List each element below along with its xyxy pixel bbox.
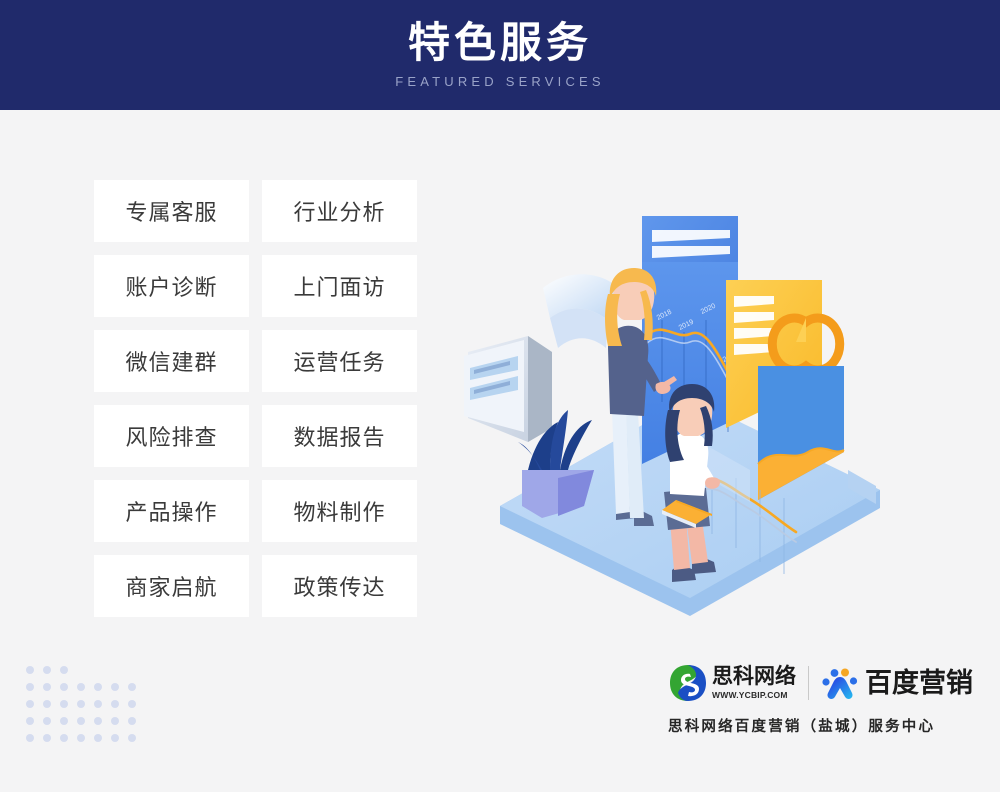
dot xyxy=(94,700,102,708)
dot xyxy=(60,683,68,691)
service-card-label: 政策传达 xyxy=(293,570,385,602)
baidu-logo[interactable]: 百度营销 xyxy=(821,666,973,700)
dot xyxy=(111,717,119,725)
ribbon-shape xyxy=(543,274,616,348)
service-card-label: 产品操作 xyxy=(125,495,217,527)
service-card[interactable]: 物料制作 xyxy=(262,480,417,542)
dot xyxy=(77,717,85,725)
dot xyxy=(43,734,51,742)
sike-logo-text: 思科网络 WWW.YCBIP.COM xyxy=(712,666,796,700)
service-card[interactable]: 上门面访 xyxy=(262,255,417,317)
baidu-dot-orange xyxy=(841,669,849,677)
service-card[interactable]: 账户诊断 xyxy=(94,255,249,317)
service-card[interactable]: 风险排查 xyxy=(94,405,249,467)
dot xyxy=(60,666,68,674)
dot xyxy=(128,734,136,742)
footer-branding: 思科网络 WWW.YCBIP.COM 百度营销 思科 xyxy=(668,660,980,736)
dot xyxy=(60,734,68,742)
service-card-label: 微信建群 xyxy=(125,345,217,377)
isometric-data-analytics-illustration: 2018 2019 2020 2021 xyxy=(440,170,940,630)
baidu-paw-icon xyxy=(821,666,859,700)
page-title: 特色服务 xyxy=(408,21,592,65)
service-card-label: 上门面访 xyxy=(293,270,385,302)
footer-caption: 思科网络百度营销（盐城）服务中心 xyxy=(668,715,980,736)
dot xyxy=(77,683,85,691)
service-card-label: 风险排查 xyxy=(125,420,217,452)
sike-logo[interactable]: 思科网络 WWW.YCBIP.COM xyxy=(668,663,796,703)
dot-grid-pattern xyxy=(26,666,134,748)
page-header: 特色服务 FEATURED SERVICES xyxy=(0,0,1000,110)
service-card-label: 商家启航 xyxy=(125,570,217,602)
dot xyxy=(111,700,119,708)
baidu-dot-upper-left xyxy=(831,669,839,677)
floating-document-card xyxy=(464,336,552,442)
dot xyxy=(77,734,85,742)
dot xyxy=(26,717,34,725)
baidu-dot-right xyxy=(850,677,857,684)
baidu-brand-name: 百度营销 xyxy=(865,670,973,697)
sike-logo-icon xyxy=(668,663,708,703)
service-card-label: 运营任务 xyxy=(293,345,385,377)
service-card-label: 行业分析 xyxy=(293,195,385,227)
baidu-dot-left xyxy=(822,678,829,685)
sike-website-url: WWW.YCBIP.COM xyxy=(712,690,796,700)
sike-company-name: 思科网络 xyxy=(712,666,796,688)
dot xyxy=(60,700,68,708)
dot xyxy=(128,700,136,708)
dot xyxy=(43,700,51,708)
service-card[interactable]: 专属客服 xyxy=(94,180,249,242)
service-card[interactable]: 产品操作 xyxy=(94,480,249,542)
dot xyxy=(128,717,136,725)
service-card-label: 物料制作 xyxy=(293,495,385,527)
dot xyxy=(111,734,119,742)
dot xyxy=(26,700,34,708)
logo-divider xyxy=(808,666,809,700)
service-card[interactable]: 运营任务 xyxy=(262,330,417,392)
dot xyxy=(111,683,119,691)
service-card-label: 数据报告 xyxy=(293,420,385,452)
dot xyxy=(77,700,85,708)
service-card[interactable]: 数据报告 xyxy=(262,405,417,467)
dot xyxy=(43,717,51,725)
dot xyxy=(94,683,102,691)
dot xyxy=(26,666,34,674)
logo-row: 思科网络 WWW.YCBIP.COM 百度营销 xyxy=(668,660,980,706)
dot xyxy=(26,734,34,742)
dot xyxy=(94,734,102,742)
service-card[interactable]: 行业分析 xyxy=(262,180,417,242)
service-card-label: 账户诊断 xyxy=(125,270,217,302)
dot xyxy=(43,683,51,691)
service-card[interactable]: 微信建群 xyxy=(94,330,249,392)
dot xyxy=(128,683,136,691)
service-card[interactable]: 政策传达 xyxy=(262,555,417,617)
page-subtitle: FEATURED SERVICES xyxy=(395,74,605,89)
service-card-label: 专属客服 xyxy=(125,195,217,227)
dot xyxy=(43,666,51,674)
service-card[interactable]: 商家启航 xyxy=(94,555,249,617)
dot xyxy=(94,717,102,725)
dot xyxy=(60,717,68,725)
dot xyxy=(26,683,34,691)
service-card-grid: 专属客服 行业分析 账户诊断 上门面访 微信建群 运营任务 风险排查 数据报告 … xyxy=(94,180,417,617)
